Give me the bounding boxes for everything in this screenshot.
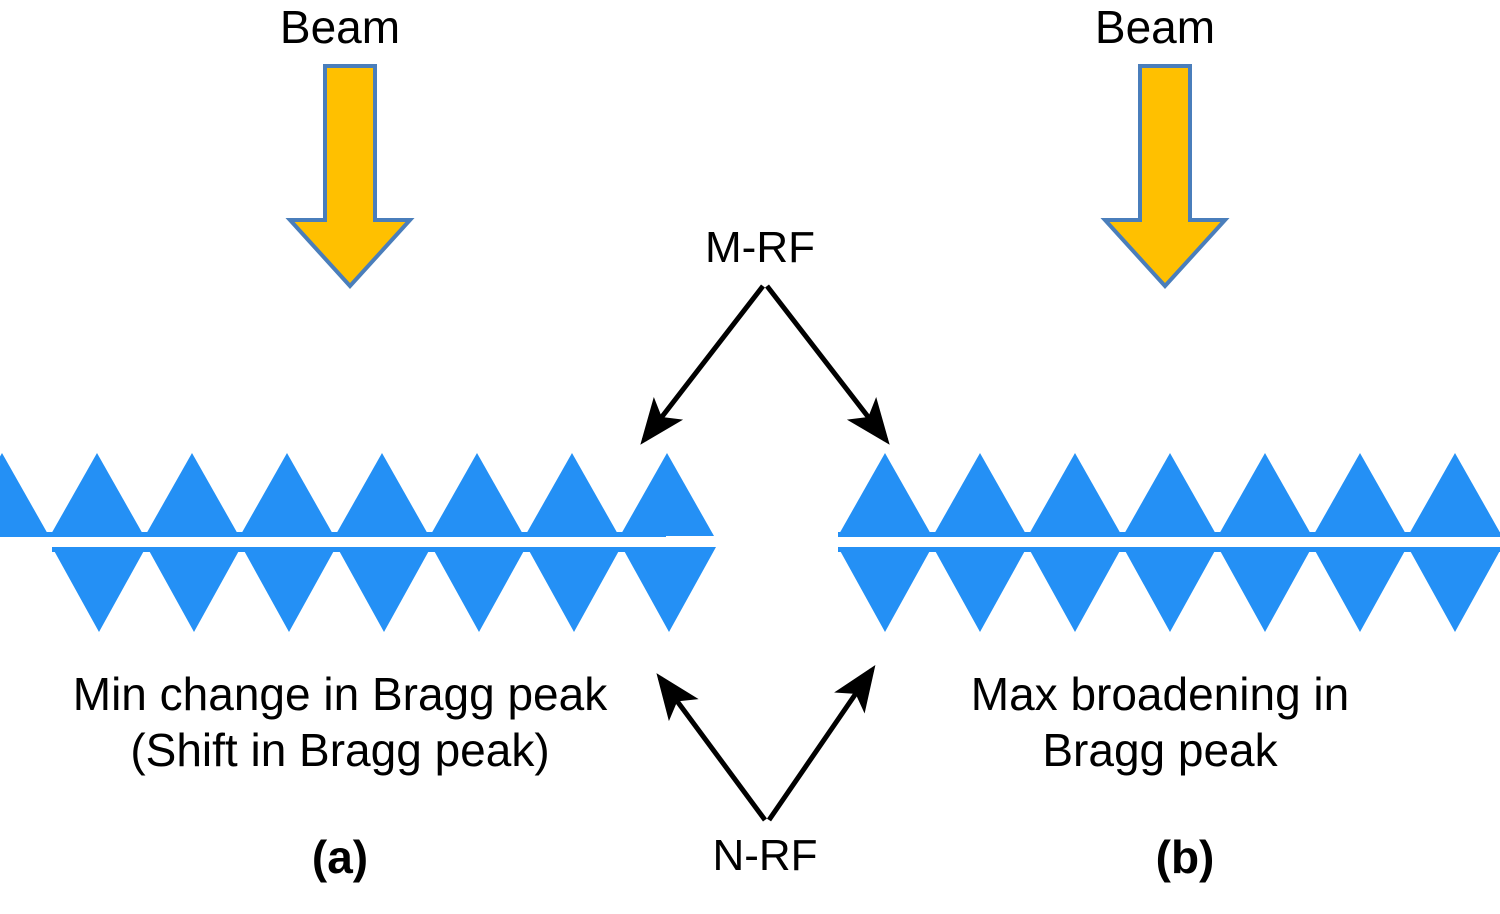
ridge-a-top-row xyxy=(0,453,714,537)
figure-canvas: Beam Beam M-RF xyxy=(0,0,1500,914)
m-rf-fork-arrows xyxy=(600,280,930,455)
caption-panel-a: Min change in Bragg peak (Shift in Bragg… xyxy=(10,666,670,778)
n-rf-label: N-RF xyxy=(635,830,895,882)
ridge-a-bottom-row xyxy=(52,547,716,632)
ridge-b-bottom-row xyxy=(838,547,1500,632)
caption-panel-a-line2: (Shift in Bragg peak) xyxy=(130,724,549,776)
ridge-filter-panel-b xyxy=(830,448,1500,648)
caption-panel-a-line1: Min change in Bragg peak xyxy=(73,668,607,720)
n-rf-fork-arrows xyxy=(600,650,930,825)
ridge-b-top-row xyxy=(838,453,1500,537)
beam-label-right: Beam xyxy=(1020,0,1290,54)
m-rf-label: M-RF xyxy=(630,222,890,274)
beam-arrow-right-icon xyxy=(1095,62,1235,292)
caption-panel-b: Max broadening in Bragg peak xyxy=(910,666,1410,778)
ridge-filter-panel-a xyxy=(0,448,730,648)
caption-panel-b-line1: Max broadening in xyxy=(971,668,1349,720)
beam-arrow-left-icon xyxy=(280,62,420,292)
panel-letter-b: (b) xyxy=(1060,830,1310,884)
caption-panel-b-line2: Bragg peak xyxy=(1042,724,1277,776)
beam-label-left: Beam xyxy=(205,0,475,54)
panel-letter-a: (a) xyxy=(215,830,465,884)
